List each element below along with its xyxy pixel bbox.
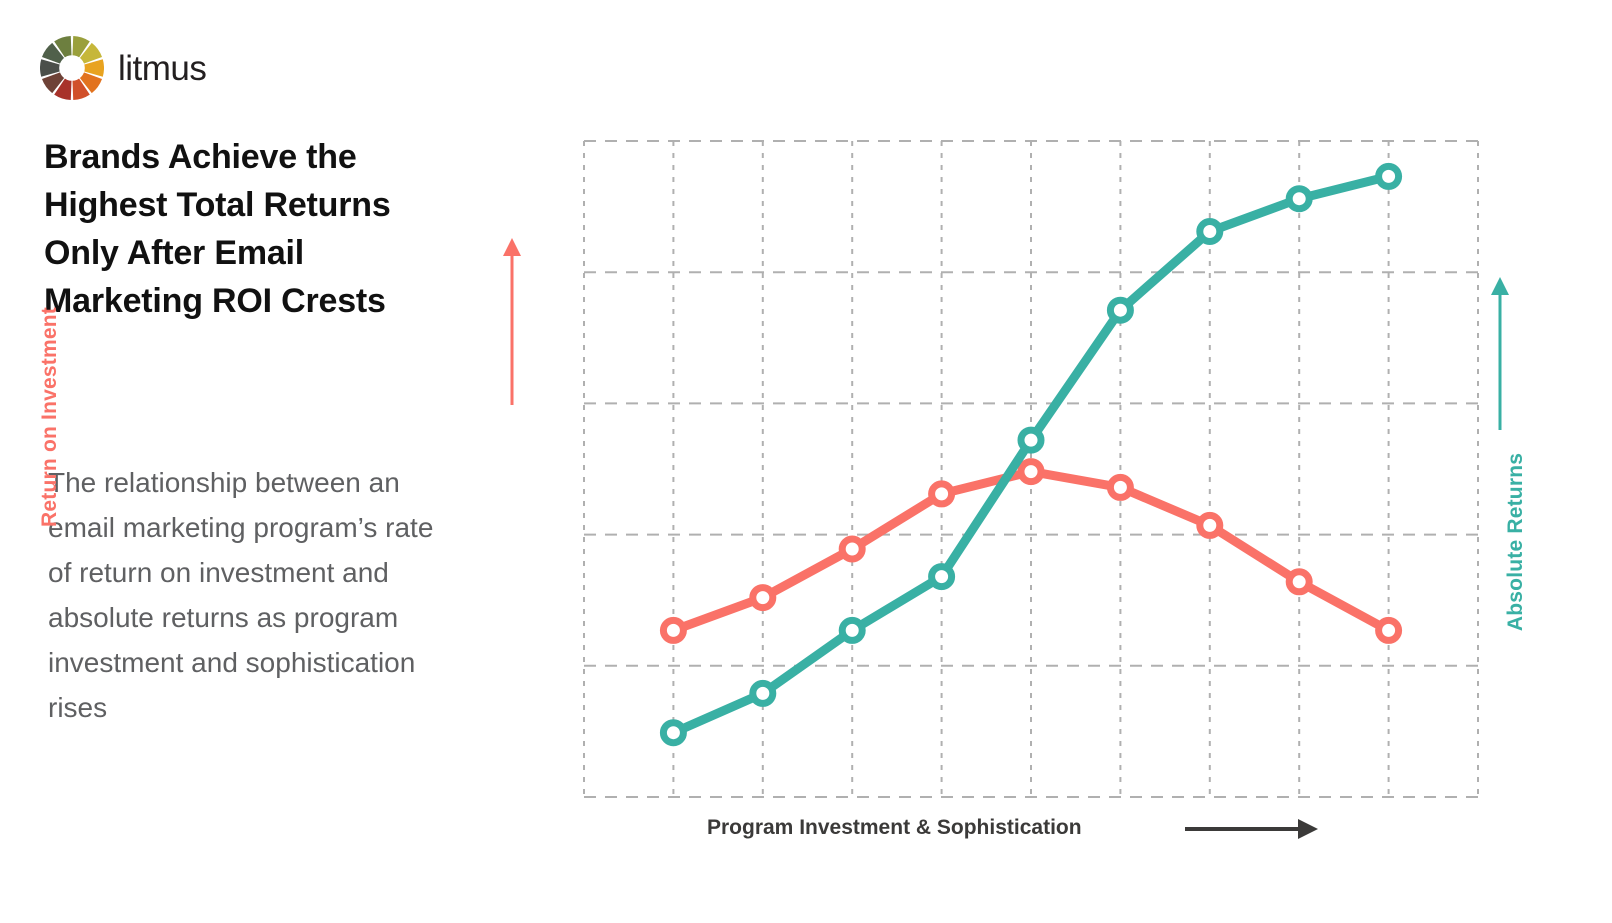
chart-gridlines xyxy=(584,141,1478,797)
brand-logo: litmus xyxy=(40,36,206,100)
chart-axis-arrows xyxy=(503,238,1509,839)
x-axis-label: Program Investment & Sophistication xyxy=(707,816,1082,840)
page-title: Brands Achieve the Highest Total Returns… xyxy=(44,133,404,325)
brand-name: litmus xyxy=(118,51,206,86)
page-description: The relationship between an email market… xyxy=(48,460,448,730)
chart-series xyxy=(663,166,1398,742)
litmus-pinwheel-icon xyxy=(40,36,104,100)
y-axis-label-left: Return on Investment xyxy=(38,287,62,547)
y-axis-label-right: Absolute Returns xyxy=(1504,402,1528,682)
